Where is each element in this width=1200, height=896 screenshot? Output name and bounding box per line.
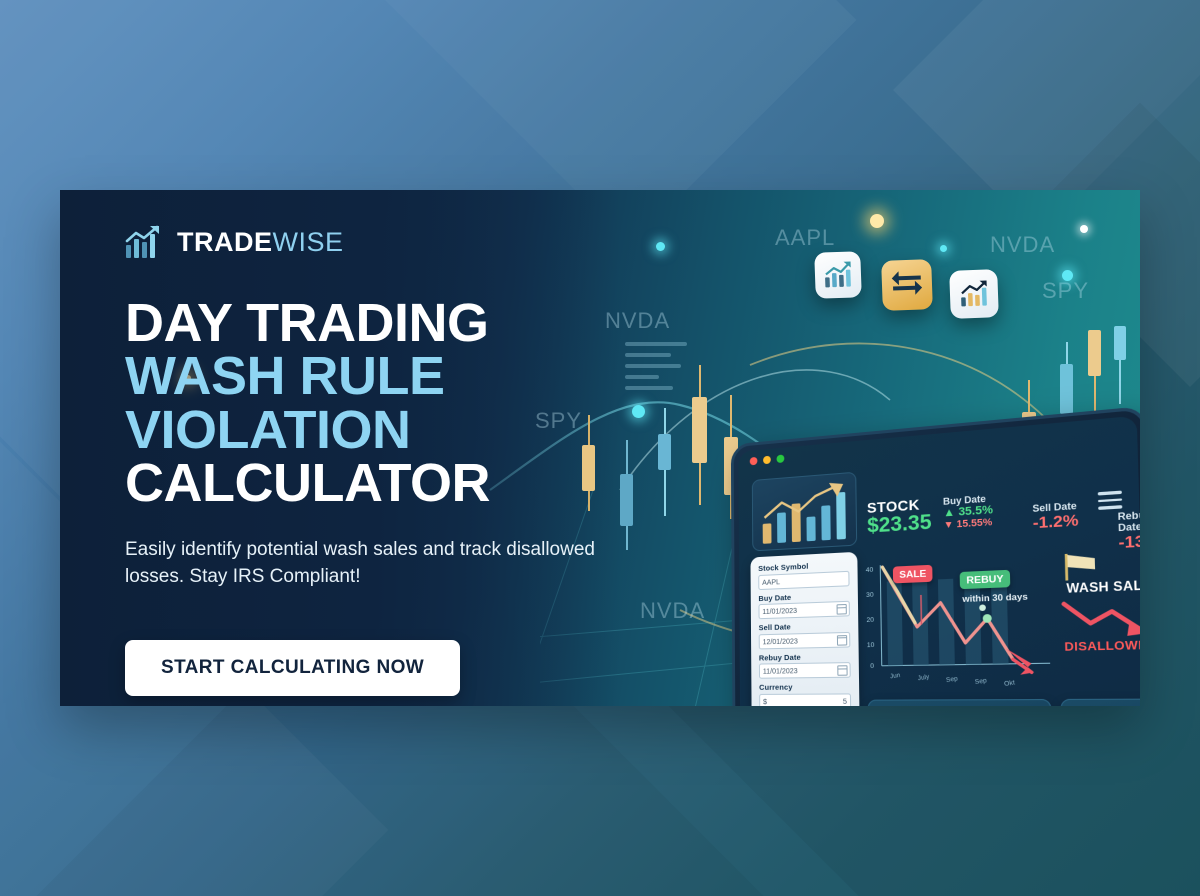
calendar-icon[interactable] [837,665,847,676]
wash-sale-block: WASH SALE DISALLOWED [1054,547,1140,654]
ghost-text-lines [625,342,695,402]
headline-line-3: VIOLATION [125,404,595,457]
svg-text:20: 20 [866,616,874,624]
sale-badge: SALE [893,565,933,584]
glow-dot [1080,225,1088,233]
ticker-label-nvda-3: NVDA [640,598,705,624]
svg-text:10: 10 [867,642,875,650]
window-maximize-dot[interactable] [777,454,785,463]
down-arrow-icon [1059,596,1140,640]
candlestick [658,408,671,516]
hero-banner: NVDA SPY AAPL NVDA SPY NVDA [60,190,1140,706]
buy-date-input[interactable]: 11/01/2023 [758,601,849,619]
calendar-icon[interactable] [837,635,847,646]
candlestick [1114,326,1126,404]
currency-settings-panel: Currency $ Currency $ [868,699,1054,706]
buy-date-value: 11/01/2023 [762,606,797,616]
ticker-label-nvda-2: NVDA [990,232,1055,258]
glow-dot [1062,270,1073,281]
hero-subtitle: Easily identify potential wash sales and… [125,537,595,591]
brand-name-light: WISE [273,227,344,257]
stat-buy-date: Buy Date ▲ 35.5% ▼ 15.55% [943,493,993,531]
svg-text:30: 30 [866,591,874,599]
stat-buy-down: ▼ 15.55% [943,517,993,532]
stat-rebuy-date: Rebuy Date -13.7% [1118,507,1140,552]
glow-dot [632,405,645,418]
summary-panel: Summary Stock -+8 Deola -19 OUTPUT [1060,698,1140,706]
candlestick [620,440,633,550]
rebuy-badge: REBUY [960,570,1011,589]
brand-name-bold: TRADE [177,227,273,257]
candlestick [1088,330,1101,422]
calendar-icon[interactable] [837,604,847,615]
tile-exchange[interactable] [881,259,933,311]
svg-text:Sep: Sep [974,678,987,686]
svg-text:Okt: Okt [1004,680,1016,687]
exchange-arrows-icon [891,270,924,299]
candlestick [692,365,707,505]
window-close-dot[interactable] [750,457,758,466]
currency-amount-input[interactable]: $ 5 [759,693,851,706]
glow-dot [870,214,884,228]
bar-chart-arrow-icon [125,225,165,259]
field-label-rebuy-date: Rebuy Date [759,651,851,662]
start-calculating-button[interactable]: START CALCULATING NOW [125,640,460,696]
stat-sell-date: Sell Date -1.2% [1032,500,1078,532]
svg-text:Sep: Sep [946,676,959,684]
headline-line-4: CALCULATOR [125,457,595,510]
flag-icon [1059,550,1100,581]
currency-symbol: $ [763,696,767,705]
glow-dot [940,245,947,252]
stat-label-rebuy-date: Rebuy Date [1118,507,1140,533]
tile-bar-chart-up[interactable] [814,251,862,299]
bar-chart-up-icon [823,260,854,289]
stat-sell-value: -1.2% [1033,511,1079,532]
glow-dot [656,242,665,251]
brand-name: TRADEWISE [177,229,344,256]
headline-line-1: DAY TRADING [125,297,595,350]
stock-value: $23.35 [867,512,932,538]
device-screen: Stock Symbol AAPL Buy Date 11/01/2023 Se… [738,416,1140,706]
svg-text:July: July [917,674,930,682]
sell-date-input[interactable]: 12/01/2023 [759,631,851,649]
wash-sale-title: WASH SALE [1055,579,1140,597]
device-mockup: Stock Symbol AAPL Buy Date 11/01/2023 Se… [731,406,1140,706]
window-minimize-dot[interactable] [763,456,771,465]
calculator-form-panel: Stock Symbol AAPL Buy Date 11/01/2023 Se… [750,552,860,706]
tile-bar-chart-trend[interactable] [949,269,999,319]
ticker-label-spy-2: SPY [1042,278,1089,304]
disallowed-status: DISALLOWED [1057,638,1140,654]
bar-chart-thumbnail [752,472,857,552]
price-chart: 40 30 20 10 0 [866,553,1053,687]
page-title: DAY TRADING WASH RULE VIOLATION CALCULAT… [125,297,595,511]
banner-stage: NVDA SPY AAPL NVDA SPY NVDA [0,0,1200,896]
field-label-sell-date: Sell Date [759,620,850,632]
brand-logo[interactable]: TRADEWISE [125,225,595,259]
sell-date-value: 12/01/2023 [763,636,798,646]
hero-copy: TRADEWISE DAY TRADING WASH RULE VIOLATIO… [125,225,595,696]
ticker-label-aapl: AAPL [775,225,835,251]
svg-text:Jun: Jun [890,672,901,680]
rebuy-date-input[interactable]: 11/01/2023 [759,662,851,679]
headline-line-2: WASH RULE [125,350,595,403]
ticker-label-nvda-1: NVDA [605,308,670,334]
bar-chart-trend-icon [959,279,990,308]
svg-text:0: 0 [870,663,874,671]
svg-text:40: 40 [866,566,874,574]
field-label-currency: Currency [759,682,851,692]
stock-symbol-input[interactable]: AAPL [758,570,849,589]
rebuy-date-value: 11/01/2023 [763,666,798,676]
within-30-days-note: within 30 days [962,591,1028,604]
amount-value: 5 [843,696,847,705]
